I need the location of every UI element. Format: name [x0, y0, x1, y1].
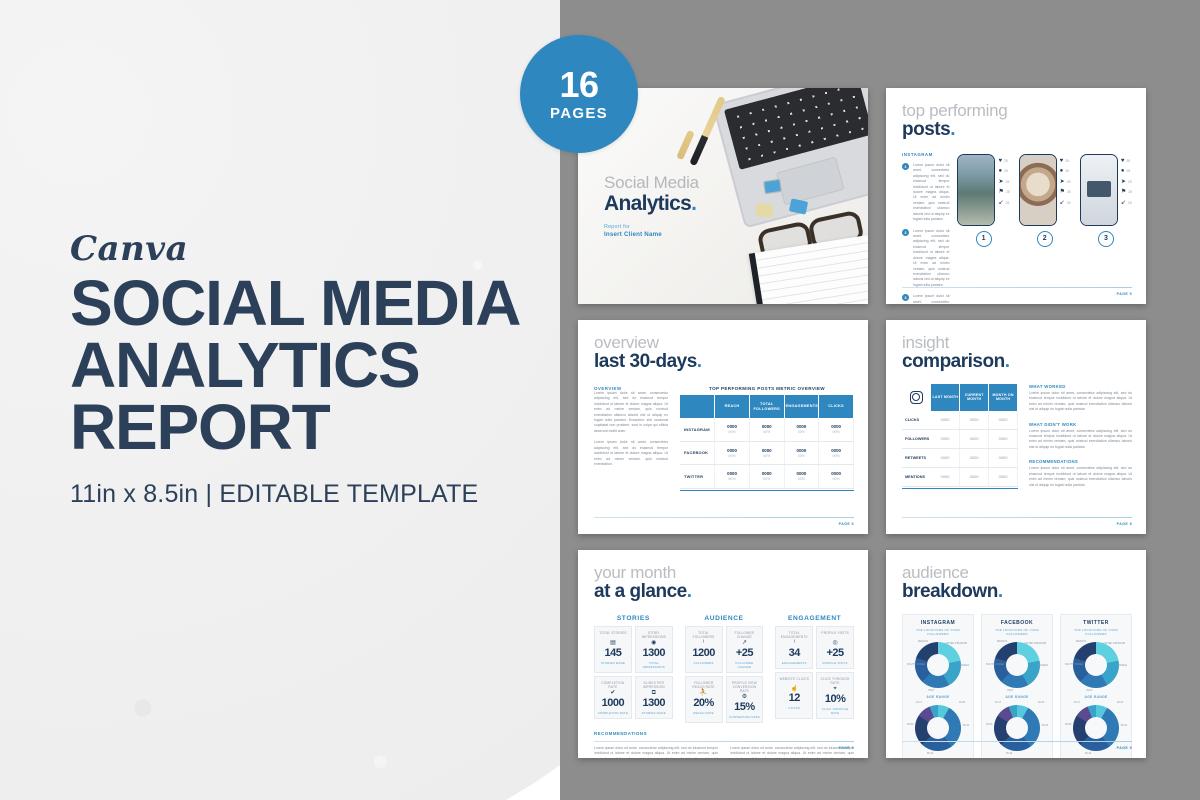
stat-card: TOTAL ENGAGEMENTS ᴵ 34 ENGAGEMENTS	[775, 626, 813, 669]
cell-percent: 00%	[820, 477, 852, 482]
cell-percent: 00%	[751, 454, 783, 459]
send-icon: ➤25	[998, 179, 1009, 185]
cover-title-bold-text: Analytics	[604, 192, 691, 215]
cell-percent: 00%	[716, 477, 748, 482]
donut-age	[994, 705, 1040, 751]
page-number: PAGE 9	[839, 746, 854, 750]
bullet-item: 3 Lorem ipsum dolor sit amet, consectetu…	[902, 294, 949, 304]
stat-value: 10%	[819, 694, 851, 705]
donut-label: 45-54	[1065, 723, 1071, 726]
table-cell: 0000	[960, 429, 989, 448]
bookmark-count: 25	[1067, 190, 1071, 194]
cell-percent: 00%	[716, 454, 748, 459]
share-count: 25	[1006, 201, 1010, 205]
stat-value: 1000	[597, 698, 629, 709]
stat-value: +25	[729, 648, 761, 659]
what-worked-heading: WHAT WORKED	[1029, 384, 1132, 389]
slide-top-performing-posts[interactable]: top performing posts. INSTAGRAM 1 Lorem …	[886, 88, 1146, 304]
stat-label-top: SLIDES PER IMPRESSION	[638, 681, 670, 689]
cover-title-dot: .	[691, 192, 696, 215]
donut-label: 45-54	[907, 723, 913, 726]
send-icon: ➤25	[1121, 179, 1132, 185]
table-cell: 0000	[960, 411, 989, 430]
table-cell: 0000	[960, 467, 989, 486]
comment-icon: ●25	[998, 168, 1009, 174]
donut-label: ITALY	[1007, 689, 1014, 692]
post-image	[1081, 155, 1117, 225]
stat-label-bottom: FOLLOWERS	[688, 661, 720, 665]
trackpad-image	[776, 157, 845, 206]
donut-label: CANADA	[959, 664, 969, 667]
stat-card: TOTAL FOLLOWERS ᴵ 1200 FOLLOWERS	[685, 626, 723, 673]
table-cell: 0000	[989, 448, 1018, 467]
bullet-item: 2 Lorem ipsum dolor sit amet, consectetu…	[902, 229, 949, 289]
stat-card: PROFILE VISITS ◎ +25 PROFILE VISITS	[816, 626, 854, 669]
stat-value: 1300	[638, 698, 670, 709]
table-corner-cell	[680, 395, 715, 418]
what-didnt-work-block: WHAT DIDN'T WORK Lorem ipsum dolor sit a…	[1029, 422, 1132, 451]
locations-donut-chart: MEXICO UNITED KINGDOM CANADA ITALY SOUTH…	[1065, 638, 1127, 692]
donut-label: UNITED KINGDOM	[945, 642, 967, 645]
stat-value: 15%	[729, 702, 761, 713]
share-glyph: ↙	[998, 200, 1003, 206]
donut-label: 13-17	[1074, 701, 1080, 704]
stat-card: SLIDES PER IMPRESSION ⧉ 1300 STORIES MAD…	[635, 676, 673, 719]
stat-card: FOLLOWER CHANGE ↗ +25 FOLLOWER CHANGE	[726, 626, 764, 673]
stat-value: 145	[597, 648, 629, 659]
group-stories: STORIES TOTAL STORIES ▤ 145 STORIES MADE…	[594, 615, 673, 723]
check-icon: ✔	[597, 690, 629, 697]
cell-percent: 00%	[786, 477, 818, 482]
cell-percent: 00%	[786, 430, 818, 435]
donut-label: 18-24	[1117, 701, 1123, 704]
table-cell: 000000%	[715, 418, 750, 441]
page-number: PAGE 6	[839, 522, 854, 526]
stat-label-bottom: CONVERSION RATE	[729, 715, 761, 719]
slide5-heading-bold-text: at a glance	[594, 581, 687, 602]
row-label-retweets: RETWEETS	[902, 448, 931, 467]
what-didnt-work-text: Lorem ipsum dolor sit amet, consectetur …	[1029, 429, 1132, 451]
chart-bar-icon: ᴵ	[778, 640, 810, 647]
cell-percent: 00%	[716, 430, 748, 435]
table-cell: 0000	[931, 448, 960, 467]
slide2-heading-dot: .	[950, 119, 955, 140]
recommendations-block: RECOMMENDATIONS Lorem ipsum dolor sit am…	[1029, 459, 1132, 488]
table-cell: 0000	[989, 429, 1018, 448]
row-label-mentions: MENTIONS	[902, 467, 931, 486]
comment-icon: ●25	[1121, 168, 1132, 174]
comment-count: 25	[1126, 169, 1130, 173]
donut-label: 45-54	[986, 723, 992, 726]
heart-count: 25	[1065, 159, 1069, 163]
overview-paragraph: Lorem ipsum dolor sit amet, consectetur …	[594, 440, 668, 467]
heart-glyph: ♥	[998, 158, 1002, 164]
table-row: INSTAGRAM 000000% 000000% 000000% 000000…	[680, 418, 854, 441]
table-row: TWITTER 000000% 000000% 000000% 000000%	[680, 465, 854, 488]
send-glyph: ➤	[998, 179, 1003, 185]
slide4-heading-light: insight	[902, 334, 1132, 351]
heart-icon: ♥25	[1121, 158, 1132, 164]
donut-label: 35-44	[1085, 752, 1091, 755]
donut-label: 35-44	[1006, 752, 1012, 755]
table-row: FACEBOOK 000000% 000000% 000000% 000000%	[680, 441, 854, 464]
stories-icon: ▤	[597, 640, 629, 647]
donut-age	[915, 705, 961, 751]
age-range-title: AGE RANGE	[907, 695, 969, 699]
group-title-audience: AUDIENCE	[685, 615, 764, 622]
post-card[interactable]: ♥25 ●25 ➤25 ⚑25 ↙25 3	[1080, 154, 1132, 304]
title-line-2: ANALYTICS	[70, 334, 570, 396]
bookmark-glyph: ⚑	[1060, 189, 1065, 195]
comment-icon: ●25	[1060, 168, 1071, 174]
donut-label: MEXICO	[997, 640, 1007, 643]
donut-label: ITALY	[1086, 689, 1093, 692]
table-cell: 000000%	[715, 465, 750, 488]
network-name: TWITTER	[1065, 620, 1127, 626]
slide-overview[interactable]: overview last 30-days. OVERVIEW Lorem ip…	[578, 320, 868, 534]
table-cell: 0000	[931, 411, 960, 430]
group-title-stories: STORIES	[594, 615, 673, 622]
bookmark-icon: ⚑25	[1121, 189, 1132, 195]
metric-table-title: TOP PERFORMING POSTS METRIC OVERVIEW	[680, 386, 854, 391]
slide6-heading-bold: breakdown.	[902, 582, 1132, 602]
network-name: INSTAGRAM	[907, 620, 969, 626]
locations-title: TOP LOCATIONS OF YOUR FOLLOWERS	[986, 628, 1048, 636]
table-cell: 000000%	[749, 465, 784, 488]
ctr-icon: ⌖	[819, 686, 851, 693]
comment-glyph: ●	[1121, 168, 1125, 174]
page-title: SOCIAL MEDIA ANALYTICS REPORT	[70, 272, 570, 458]
table-row: MENTIONS 0000 0000 0000	[902, 467, 1018, 486]
stat-label-top: TOTAL STORIES	[597, 631, 629, 639]
post-metrics: ♥25 ●25 ➤25 ⚑25 ↙25	[1060, 154, 1071, 206]
slide6-heading-dot: .	[998, 581, 1003, 602]
row-label-twitter: TWITTER	[680, 465, 715, 488]
heart-count: 25	[1004, 159, 1008, 163]
column-header-clicks: CLICKS	[819, 395, 854, 418]
cover-title-bold: Analytics.	[604, 193, 699, 215]
footer-divider	[594, 517, 854, 518]
stat-label-bottom: ENGAGEMENTS	[778, 661, 810, 665]
share-glyph: ↙	[1121, 200, 1126, 206]
stat-value: 1300	[638, 648, 670, 659]
promo-subtitle: 11in x 8.5in | EDITABLE TEMPLATE	[70, 480, 570, 509]
footer-divider	[594, 741, 854, 742]
slides-grid: Social Media Analytics. Report for Inser…	[560, 0, 1200, 800]
donut-label: 25-34	[1042, 724, 1048, 727]
stat-label-bottom: REACH RATE	[688, 711, 720, 715]
stat-card: PROFILE VIEW CONVERSION RATE ⚙ 15% CONVE…	[726, 676, 764, 723]
age-donut-chart: 13-17 18-24 25-34 35-44 45-54	[907, 701, 969, 755]
age-donut-chart: 13-17 18-24 25-34 35-44 45-54	[986, 701, 1048, 755]
share-icon: ↙25	[998, 200, 1009, 206]
slides-icon: ⧉	[638, 690, 670, 697]
cell-percent: 00%	[820, 430, 852, 435]
table-cell: 000000%	[784, 418, 819, 441]
donut-age	[1073, 705, 1119, 751]
stat-groups: STORIES TOTAL STORIES ▤ 145 STORIES MADE…	[594, 615, 854, 723]
stat-card: TOTAL STORIES ▤ 145 STORIES MADE	[594, 626, 632, 673]
arrow-up-icon: ↗	[729, 640, 761, 647]
keyboard-image	[724, 88, 868, 170]
age-range-title: AGE RANGE	[986, 695, 1048, 699]
stat-label-top: CLICK THROUGH RATE	[819, 677, 851, 685]
donut-label: 13-17	[916, 701, 922, 704]
row-label-clicks: CLICKS	[902, 411, 931, 430]
table-cell: 000000%	[819, 418, 854, 441]
overview-paragraph: Lorem ipsum dolor sit amet, consectetur …	[594, 391, 668, 434]
recommendations-heading: RECOMMENDATIONS	[1029, 459, 1132, 464]
heart-icon: ♥25	[1060, 158, 1071, 164]
donut-label: CANADA	[1038, 664, 1048, 667]
table-cell: 000000%	[819, 441, 854, 464]
slide3-heading-dot: .	[697, 351, 702, 372]
profile-icon: ◎	[819, 640, 851, 647]
slide2-heading-bold-text: posts	[902, 119, 950, 140]
comment-count: 25	[1004, 169, 1008, 173]
send-icon: ➤25	[1060, 179, 1071, 185]
share-icon: ↙25	[1060, 200, 1071, 206]
phone-mockup	[1080, 154, 1118, 226]
cover-text-block: Social Media Analytics. Report for Inser…	[604, 174, 699, 238]
post-card[interactable]: ♥25 ●25 ➤25 ⚑25 ↙25 1	[957, 154, 1009, 304]
title-line-3: REPORT	[70, 396, 570, 458]
instagram-icon	[910, 391, 923, 404]
comment-glyph: ●	[1060, 168, 1064, 174]
audience-columns: INSTAGRAM TOP LOCATIONS OF YOUR FOLLOWER…	[902, 614, 1132, 758]
page-number: PAGE 9	[1117, 746, 1132, 750]
heart-icon: ♥25	[998, 158, 1009, 164]
stat-label-bottom: COMPLETION RATE	[597, 711, 629, 715]
bullet-number-icon: 3	[902, 294, 909, 301]
donut-label: UNITED KINGDOM	[1024, 642, 1046, 645]
page-number: PAGE 8	[1117, 522, 1132, 526]
table-cell: 000000%	[749, 418, 784, 441]
stat-card: COMPLETION RATE ✔ 1000 COMPLETION RATE	[594, 676, 632, 719]
column-header-current-month: CURRENT MONTH	[960, 384, 989, 411]
slide3-heading-bold: last 30-days.	[594, 352, 854, 372]
share-count: 25	[1128, 201, 1132, 205]
recommendations-text: Lorem ipsum dolor sit amet, consectetur …	[1029, 466, 1132, 488]
donut-label: SOUTH KOREA	[1065, 663, 1083, 666]
cover-title-light: Social Media	[604, 174, 699, 191]
stat-card: STORY IMPRESSIONS ◉ 1300 TOTAL IMPRESSIO…	[635, 626, 673, 673]
stat-value: 20%	[688, 698, 720, 709]
table-header-row: LAST MONTH CURRENT MONTH MONTH ON MONTH	[902, 384, 1018, 411]
stat-value: 1200	[688, 648, 720, 659]
post-rank-badge: 1	[976, 231, 992, 247]
stat-card: FOLLOWER REACH RATE ⛹ 20% REACH RATE	[685, 676, 723, 723]
donut-label: 25-34	[963, 724, 969, 727]
phone-mockups: ♥25 ●25 ➤25 ⚑25 ↙25 1	[957, 152, 1132, 304]
slide3-heading-bold-text: last 30-days	[594, 351, 697, 372]
client-name: Insert Client Name	[604, 231, 699, 238]
cursor-icon: ☝	[778, 686, 810, 693]
donut-label: 18-24	[959, 701, 965, 704]
post-rank-badge: 2	[1037, 231, 1053, 247]
conversion-icon: ⚙	[729, 694, 761, 701]
table-underline	[902, 488, 1018, 489]
slide3-heading-light: overview	[594, 334, 854, 351]
audience-column-twitter: TWITTER TOP LOCATIONS OF YOUR FOLLOWERS …	[1060, 614, 1132, 758]
comparison-table: LAST MONTH CURRENT MONTH MONTH ON MONTH …	[902, 384, 1018, 487]
stat-label-bottom: PROFILE VISITS	[819, 661, 851, 665]
share-glyph: ↙	[1060, 200, 1065, 206]
slide-at-a-glance[interactable]: your month at a glance. STORIES TOTAL ST…	[578, 550, 868, 758]
send-count: 25	[1067, 180, 1071, 184]
slide6-heading-light: audience	[902, 564, 1132, 581]
binder-clip-blue-icon	[763, 179, 782, 194]
send-glyph: ➤	[1060, 179, 1065, 185]
locations-title: TOP LOCATIONS OF YOUR FOLLOWERS	[907, 628, 969, 636]
slide5-heading-bold: at a glance.	[594, 582, 854, 602]
cell-percent: 00%	[786, 454, 818, 459]
send-glyph: ➤	[1121, 179, 1126, 185]
donut-label: SOUTH KOREA	[907, 663, 925, 666]
pages-count: 16	[559, 67, 598, 103]
table-cell: 0000	[931, 467, 960, 486]
donut-label: CANADA	[1117, 664, 1127, 667]
bullet-item: 1 Lorem ipsum dolor sit amet, consectetu…	[902, 163, 949, 223]
table-cell: 000000%	[715, 441, 750, 464]
table-row: CLICKS 0000 0000 0000	[902, 411, 1018, 430]
share-count: 25	[1067, 201, 1071, 205]
slide6-heading-bold-text: breakdown	[902, 581, 998, 602]
audience-column-instagram: INSTAGRAM TOP LOCATIONS OF YOUR FOLLOWER…	[902, 614, 974, 758]
bullet-text: Lorem ipsum dolor sit amet, consectetur …	[913, 294, 949, 304]
donut-label: UNITED KINGDOM	[1103, 642, 1125, 645]
canva-logo: Canva	[70, 232, 570, 266]
donut-label: SOUTH KOREA	[986, 663, 1004, 666]
donut-label: MEXICO	[1076, 640, 1086, 643]
post-rank-badge: 3	[1098, 231, 1114, 247]
table-row: FOLLOWERS 0000 0000 0000	[902, 429, 1018, 448]
donut-label: 13-17	[995, 701, 1001, 704]
cell-percent: 00%	[820, 454, 852, 459]
bullet-text: Lorem ipsum dolor sit amet, consectetur …	[913, 229, 949, 289]
metric-table: REACH TOTAL FOLLOWERS ENGAGEMENTS CLICKS…	[680, 395, 854, 489]
table-cell: 000000%	[819, 465, 854, 488]
column-header-month-on-month: MONTH ON MONTH	[989, 384, 1018, 411]
stat-card: WEBSITE CLICKS ☝ 12 CLICKS	[775, 672, 813, 719]
group-audience: AUDIENCE TOTAL FOLLOWERS ᴵ 1200 FOLLOWER…	[685, 615, 764, 723]
column-header-total-followers: TOTAL FOLLOWERS	[749, 395, 784, 418]
slide2-heading-light: top performing	[902, 102, 1132, 119]
table-cell: 0000	[989, 411, 1018, 430]
post-card[interactable]: ♥25 ●25 ➤25 ⚑25 ↙25 2	[1019, 154, 1071, 304]
table-cell: 000000%	[749, 441, 784, 464]
post-image	[958, 155, 994, 225]
slide-audience-breakdown[interactable]: audience breakdown. INSTAGRAM TOP LOCATI…	[886, 550, 1146, 758]
stat-label-top: COMPLETION RATE	[597, 681, 629, 689]
stat-label-bottom: FOLLOWER CHANGE	[729, 661, 761, 669]
table-cell: 0000	[931, 429, 960, 448]
heart-count: 25	[1126, 159, 1130, 163]
stat-label-bottom: STORIES MADE	[638, 711, 670, 715]
footer-divider	[902, 517, 1132, 518]
pages-badge: 16 PAGES	[520, 35, 638, 153]
age-range-title: AGE RANGE	[1065, 695, 1127, 699]
bookmark-glyph: ⚑	[1121, 189, 1126, 195]
post-image	[1020, 155, 1056, 225]
audience-column-facebook: FACEBOOK TOP LOCATIONS OF YOUR FOLLOWERS…	[981, 614, 1053, 758]
recommendations-text: Lorem ipsum dolor sit amet, consectetur …	[594, 746, 718, 758]
stat-label-top: TOTAL ENGAGEMENTS	[778, 631, 810, 639]
stat-label-bottom: CLICK THROUGH RATE	[819, 707, 851, 715]
stat-value: 34	[778, 648, 810, 659]
insight-text-column: WHAT WORKED Lorem ipsum dolor sit amet, …	[1029, 384, 1132, 489]
people-icon: ⛹	[688, 690, 720, 697]
table-header-row: REACH TOTAL FOLLOWERS ENGAGEMENTS CLICKS	[680, 395, 854, 418]
locations-donut-chart: MEXICO UNITED KINGDOM CANADA ITALY SOUTH…	[907, 638, 969, 692]
row-label-facebook: FACEBOOK	[680, 441, 715, 464]
stat-label-bottom: TOTAL IMPRESSIONS	[638, 661, 670, 669]
eye-icon: ◉	[638, 640, 670, 647]
stat-card: CLICK THROUGH RATE ⌖ 10% CLICK THROUGH R…	[816, 672, 854, 719]
donut-label: 25-34	[1121, 724, 1127, 727]
page-number: PAGE 5	[1117, 292, 1132, 296]
column-header-last-month: LAST MONTH	[931, 384, 960, 411]
binder-clip-gold-icon	[755, 203, 773, 218]
stat-label-top: FOLLOWER REACH RATE	[688, 681, 720, 689]
phone-mockup	[1019, 154, 1057, 226]
phone-mockup	[957, 154, 995, 226]
stat-label-top: FOLLOWER CHANGE	[729, 631, 761, 639]
heart-glyph: ♥	[1060, 158, 1064, 164]
instagram-icon-cell	[902, 384, 931, 411]
donut-label: 18-24	[1038, 701, 1044, 704]
title-line-1: SOCIAL MEDIA	[70, 272, 570, 334]
stat-label-top: STORY IMPRESSIONS	[638, 631, 670, 639]
bookmark-count: 25	[1128, 190, 1132, 194]
instagram-bullets: INSTAGRAM 1 Lorem ipsum dolor sit amet, …	[902, 152, 949, 304]
donut-label: 35-44	[927, 752, 933, 755]
cell-percent: 00%	[751, 477, 783, 482]
bookmark-icon: ⚑25	[1060, 189, 1071, 195]
table-cell: 000000%	[784, 441, 819, 464]
recommendations-text: Lorem ipsum dolor sit amet, consectetur …	[730, 746, 854, 758]
what-worked-text: Lorem ipsum dolor sit amet, consectetur …	[1029, 391, 1132, 413]
report-for-label: Report for	[604, 224, 699, 230]
locations-title: TOP LOCATIONS OF YOUR FOLLOWERS	[1065, 628, 1127, 636]
what-worked-block: WHAT WORKED Lorem ipsum dolor sit amet, …	[1029, 384, 1132, 413]
table-row: RETWEETS 0000 0000 0000	[902, 448, 1018, 467]
promo-panel: Canva SOCIAL MEDIA ANALYTICS REPORT 11in…	[70, 232, 570, 509]
slide-insight-comparison[interactable]: insight comparison. LAST MONTH CURRENT M…	[886, 320, 1146, 534]
footer-divider	[902, 287, 1132, 288]
stat-value: 12	[778, 693, 810, 704]
footer-divider	[902, 741, 1132, 742]
comment-glyph: ●	[998, 168, 1002, 174]
donut-label: ITALY	[928, 689, 935, 692]
stat-label-top: PROFILE VIEW CONVERSION RATE	[729, 681, 761, 693]
share-icon: ↙25	[1121, 200, 1132, 206]
stat-label-top: WEBSITE CLICKS	[778, 677, 810, 685]
recommendations-label: RECOMMENDATIONS	[594, 731, 854, 736]
column-header-reach: REACH	[715, 395, 750, 418]
bookmark-count: 25	[1006, 190, 1010, 194]
overview-text-column: OVERVIEW Lorem ipsum dolor sit amet, con…	[594, 386, 668, 491]
group-engagement: ENGAGEMENT TOTAL ENGAGEMENTS ᴵ 34 ENGAGE…	[775, 615, 854, 723]
stat-label-top: PROFILE VISITS	[819, 631, 851, 639]
row-label-followers: FOLLOWERS	[902, 429, 931, 448]
bookmark-icon: ⚑25	[998, 189, 1009, 195]
table-underline	[680, 490, 854, 491]
group-title-engagement: ENGAGEMENT	[775, 615, 854, 622]
what-didnt-work-heading: WHAT DIDN'T WORK	[1029, 422, 1132, 427]
preview-stage: Canva SOCIAL MEDIA ANALYTICS REPORT 11in…	[0, 0, 1200, 800]
metric-table-wrap: TOP PERFORMING POSTS METRIC OVERVIEW REA…	[680, 386, 854, 491]
